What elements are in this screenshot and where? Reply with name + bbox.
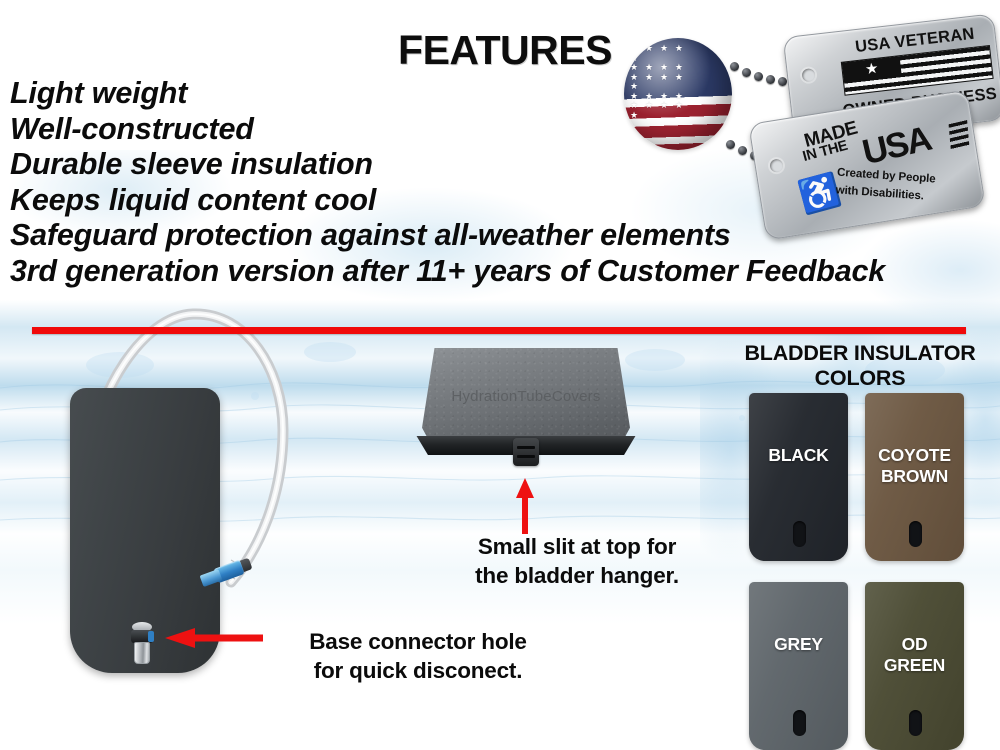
- swatch-label-line1: BLACK: [749, 445, 848, 466]
- base-connector: [131, 618, 153, 664]
- sleeve-slit-buckle: [513, 438, 539, 466]
- colors-title-line2: COLORS: [720, 366, 1000, 391]
- callout-slit: Small slit at top for the bladder hanger…: [452, 532, 702, 590]
- swatch-label: GREY: [749, 634, 848, 655]
- swatch-hanger-slot: [793, 521, 806, 547]
- flag-star-icon: ★: [864, 61, 879, 77]
- swatch-hanger-slot: [909, 521, 922, 547]
- swatch-hanger-slot: [793, 710, 806, 736]
- insulator-sleeve-photo: HydrationTubeCovers: [412, 348, 642, 476]
- swatch-label: OD GREEN: [865, 634, 964, 676]
- fitting-blue-tip: [200, 569, 223, 587]
- made-tag-sub1: Created by People: [837, 167, 936, 186]
- made-in-usa-dog-tag: MADE IN THE USA ♿ Created by People with…: [748, 89, 986, 240]
- chain-bead: [766, 75, 775, 84]
- swatch-label-line1: COYOTE: [865, 445, 964, 466]
- callout-slit-line1: Small slit at top for: [452, 532, 702, 561]
- chain-bead: [742, 68, 751, 77]
- tag-hole: [769, 158, 784, 173]
- flag-stripes-icon: [949, 120, 970, 150]
- chain-bead: [730, 62, 739, 71]
- swatch-label: BLACK: [749, 445, 848, 466]
- made-tag-sub2: with Disabilities.: [835, 184, 924, 202]
- chain-bead: [726, 140, 735, 149]
- swatch-label-line1: OD: [865, 634, 964, 655]
- color-swatch-coyote-brown[interactable]: COYOTE BROWN: [865, 393, 964, 561]
- callout-base-line2: for quick disconect.: [268, 656, 568, 685]
- callout-slit-line2: the bladder hanger.: [452, 561, 702, 590]
- color-swatch-grey[interactable]: GREY: [749, 582, 848, 750]
- swatch-label-line1: GREY: [749, 634, 848, 655]
- swatch-hanger-slot: [909, 710, 922, 736]
- quick-disconnect-fitting: [197, 558, 255, 592]
- section-divider: [32, 327, 966, 334]
- swatch-label: COYOTE BROWN: [865, 445, 964, 487]
- connector-chrome-tip: [134, 642, 150, 664]
- swatch-label-line2: BROWN: [865, 466, 964, 487]
- sleeve-body: HydrationTubeCovers: [422, 348, 630, 443]
- color-swatch-grid: BLACK COYOTE BROWN GREY OD GREEN: [749, 393, 964, 750]
- swatch-label-line2: GREEN: [865, 655, 964, 676]
- callout-base-connector: Base connector hole for quick disconect.: [268, 627, 568, 685]
- made-tag-usa: USA: [859, 119, 934, 173]
- feature-item: 3rd generation version after 11+ years o…: [10, 254, 1000, 290]
- badge-dog-tags: ★ ★ ★ ★ ★★ ★ ★ ★★ ★ ★ ★ ★★ ★ ★ ★★ ★ ★ ★ …: [618, 22, 1000, 237]
- colors-panel-title: BLADDER INSULATOR COLORS: [720, 341, 1000, 390]
- flag-canton: ★: [842, 56, 902, 81]
- callout-base-line1: Base connector hole: [268, 627, 568, 656]
- brand-watermark: HydrationTubeCovers: [422, 388, 630, 405]
- color-swatch-od-green[interactable]: OD GREEN: [865, 582, 964, 750]
- chain-bead: [754, 72, 763, 81]
- connector-blue-tab: [148, 631, 154, 642]
- base-connector-pointer-arrow: [165, 628, 263, 648]
- color-swatch-black[interactable]: BLACK: [749, 393, 848, 561]
- chain-bead: [778, 77, 787, 86]
- tag-hole: [801, 68, 815, 82]
- usa-flag-sphere-icon: ★ ★ ★ ★ ★★ ★ ★ ★★ ★ ★ ★ ★★ ★ ★ ★★ ★ ★ ★ …: [624, 38, 732, 150]
- colors-title-line1: BLADDER INSULATOR: [720, 341, 1000, 366]
- slit-pointer-arrow: [516, 478, 534, 534]
- flag-stars: ★ ★ ★ ★ ★★ ★ ★ ★★ ★ ★ ★ ★★ ★ ★ ★★ ★ ★ ★ …: [624, 38, 700, 100]
- infographic-page: FEATURES Light weight Well-constructed D…: [0, 0, 1000, 750]
- chain-bead: [738, 146, 747, 155]
